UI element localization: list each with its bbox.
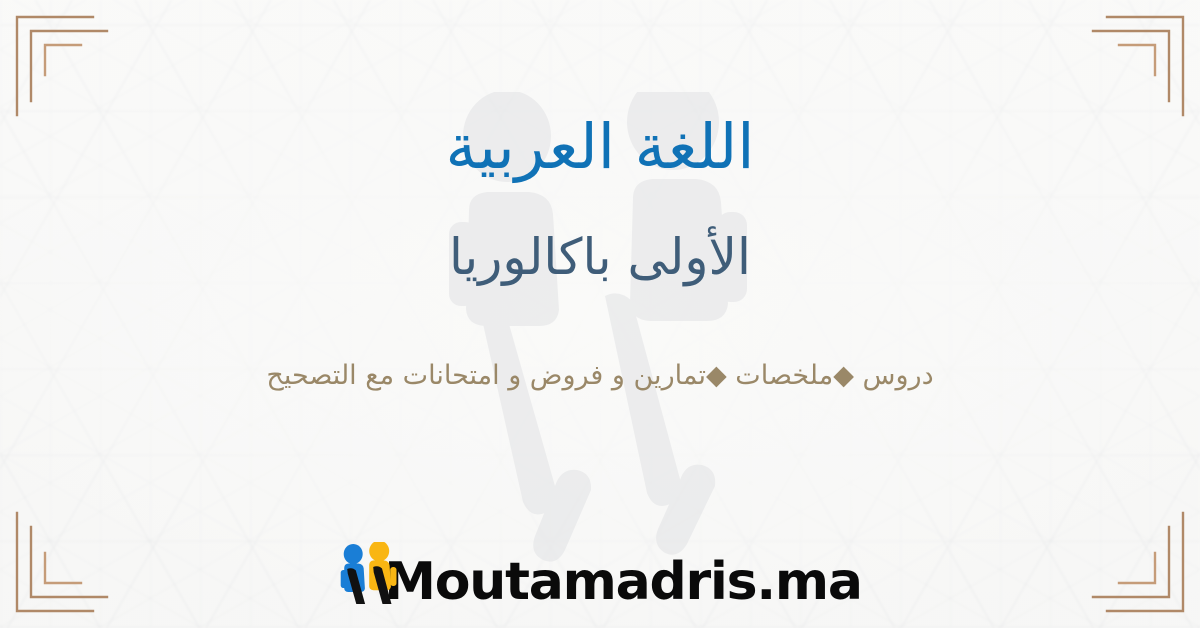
page-subtitle: الأولى باكالوريا (449, 229, 751, 287)
moutamadris-logo-icon (338, 542, 400, 604)
brand-lockup[interactable]: Moutamadris.ma (338, 542, 862, 608)
page-tagline: دروس ◆ملخصات ◆تمارين و فروض و امتحانات م… (266, 359, 933, 393)
brand-name: Moutamadris.ma (384, 556, 862, 608)
page-title: اللغة العربية (446, 112, 755, 181)
poster-canvas: اللغة العربية الأولى باكالوريا دروس ◆ملخ… (0, 0, 1200, 628)
poster-content: اللغة العربية الأولى باكالوريا دروس ◆ملخ… (0, 0, 1200, 628)
